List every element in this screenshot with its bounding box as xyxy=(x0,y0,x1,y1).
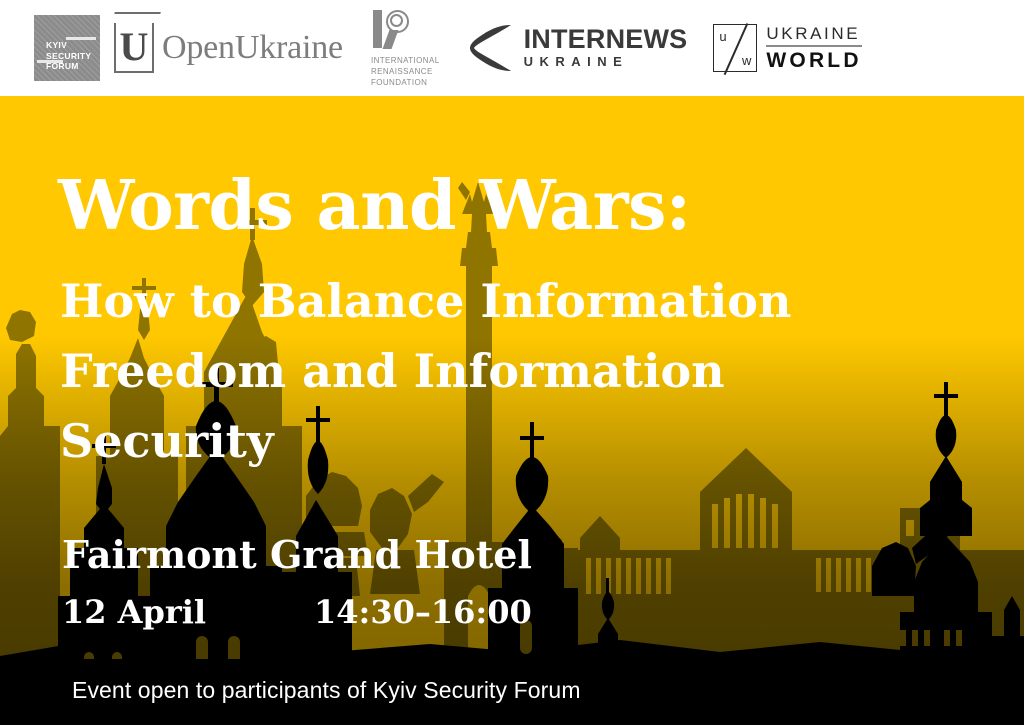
ukraine-world-icon: u w xyxy=(713,24,757,72)
ksf-line-3: FORUM xyxy=(46,61,91,72)
irf-line-3: FOUNDATION xyxy=(371,77,440,88)
logo-open-ukraine: U OpenUkraine xyxy=(114,23,343,73)
uw-mark-bottom-letter: w xyxy=(742,53,751,68)
irf-wordmark: INTERNATIONAL RENAISSANCE FOUNDATION xyxy=(371,55,440,88)
poster-text-layer: Words and Wars: How to Balance Informati… xyxy=(0,96,1024,725)
ksf-line-1: KYIV xyxy=(46,40,91,51)
uw-mark-top-letter: u xyxy=(719,29,726,44)
internews-chevron-icon xyxy=(470,22,514,74)
poster-date-time-row: 12 April 14:30–16:00 xyxy=(62,593,582,631)
internews-line-1: INTERNEWS xyxy=(524,26,688,53)
poster-time: 14:30–16:00 xyxy=(314,593,532,631)
uw-line-2: WORLD xyxy=(766,47,861,73)
irf-icon xyxy=(371,8,413,50)
open-ukraine-icon: U xyxy=(114,23,154,73)
poster-subtitle: How to Balance Information Freedom and I… xyxy=(60,266,940,476)
poster-canvas: Words and Wars: How to Balance Informati… xyxy=(0,96,1024,725)
ksf-line-2: SECURITY xyxy=(46,51,91,62)
ukraine-world-wordmark: UKRAINE WORLD xyxy=(766,24,861,73)
internews-wordmark: INTERNEWS UKRAINE xyxy=(524,26,688,71)
irf-line-1: INTERNATIONAL xyxy=(371,55,440,66)
ksf-wordmark: KYIV SECURITY FORUM xyxy=(46,40,91,72)
poster-title: Words and Wars: xyxy=(58,168,690,244)
logo-international-renaissance-foundation: INTERNATIONAL RENAISSANCE FOUNDATION xyxy=(371,8,440,88)
irf-line-2: RENAISSANCE xyxy=(371,66,440,77)
poster-footnote: Event open to participants of Kyiv Secur… xyxy=(72,676,581,704)
irf-leg xyxy=(382,30,398,49)
logo-kyiv-security-forum: KYIV SECURITY FORUM xyxy=(34,15,114,81)
kyiv-security-forum-icon: KYIV SECURITY FORUM xyxy=(34,15,100,81)
internews-line-2: UKRAINE xyxy=(524,53,688,71)
logo-internews-ukraine: INTERNEWS UKRAINE xyxy=(470,22,688,74)
open-ukraine-mark-letter: U xyxy=(116,26,152,68)
sponsor-logo-bar: KYIV SECURITY FORUM U OpenUkraine xyxy=(0,0,1024,96)
irf-bowl-inner xyxy=(390,14,403,27)
poster-venue: Fairmont Grand Hotel xyxy=(62,533,532,577)
irf-bar xyxy=(373,10,382,48)
uw-line-1: UKRAINE xyxy=(766,24,861,47)
event-poster: KYIV SECURITY FORUM U OpenUkraine xyxy=(0,0,1024,725)
open-ukraine-wordmark: OpenUkraine xyxy=(162,29,343,67)
logo-ukraine-world: u w UKRAINE WORLD xyxy=(713,24,861,73)
poster-date: 12 April xyxy=(62,593,314,631)
